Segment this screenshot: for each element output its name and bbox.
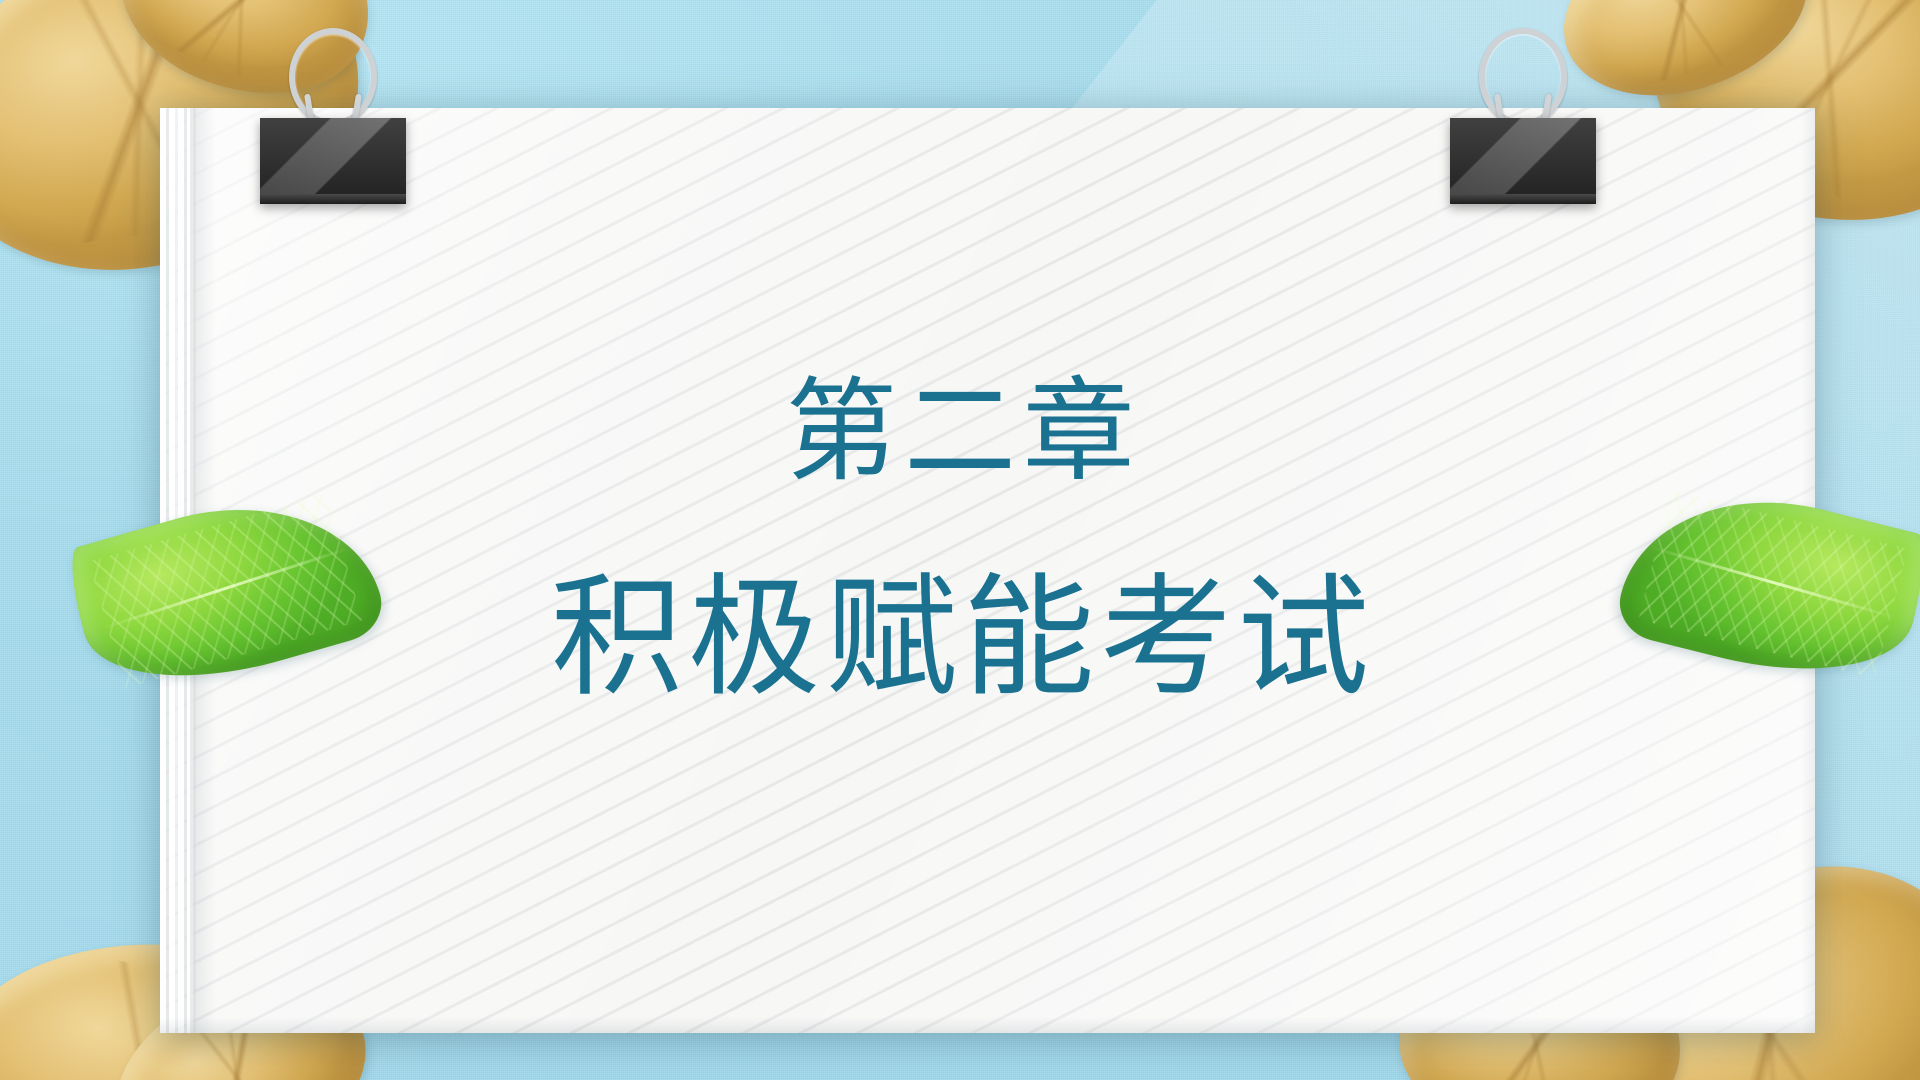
binder-clip-body — [1450, 118, 1596, 204]
binder-clip-left — [238, 22, 428, 202]
binder-clip-right — [1428, 22, 1618, 202]
binder-clip-shading — [1450, 118, 1596, 204]
binder-clip-body — [260, 118, 406, 204]
binder-clip-lip — [1450, 194, 1596, 204]
binder-clip-wire-loop — [1479, 28, 1567, 126]
paper-sheen — [160, 108, 1815, 1033]
binder-clip-lip — [260, 194, 406, 204]
binder-clip-shading — [260, 118, 406, 204]
binder-clip-wire-loop — [289, 28, 377, 126]
paper-bottom-edge — [160, 1017, 1815, 1033]
paper-card — [160, 108, 1815, 1033]
presentation-slide: 第二章 积极赋能考试 — [0, 0, 1920, 1080]
